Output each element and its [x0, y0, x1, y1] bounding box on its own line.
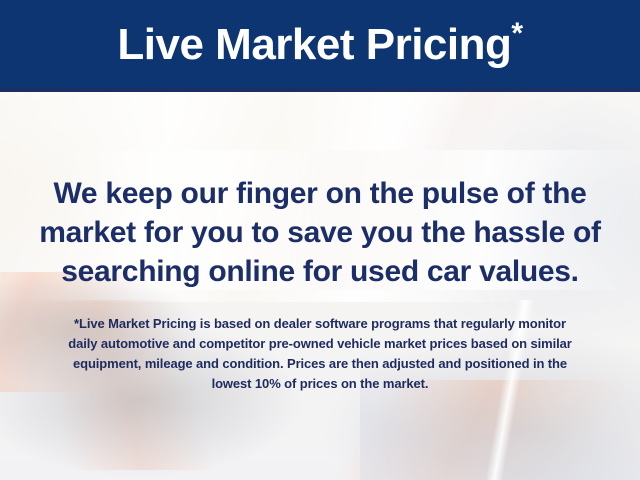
- headline-line-2: market for you to save you the hassle of: [18, 213, 622, 252]
- disclaimer-line-2: daily automotive and competitor pre-owne…: [28, 334, 612, 354]
- disclaimer-line-1: *Live Market Pricing is based on dealer …: [28, 314, 612, 334]
- header-underline: [0, 88, 640, 92]
- page-title-text: Live Market Pricing: [117, 20, 511, 69]
- content-area: We keep our finger on the pulse of the m…: [0, 92, 640, 480]
- page-title-asterisk: *: [511, 17, 522, 50]
- page-title: Live Market Pricing*: [117, 21, 522, 67]
- live-market-pricing-banner: Live Market Pricing* We keep our finger …: [0, 0, 640, 480]
- disclaimer-line-3: equipment, mileage and condition. Prices…: [28, 354, 612, 374]
- headline-line-3: searching online for used car values.: [18, 252, 622, 291]
- headline: We keep our finger on the pulse of the m…: [18, 174, 622, 291]
- header-band: Live Market Pricing*: [0, 0, 640, 88]
- disclaimer-line-4: lowest 10% of prices on the market.: [28, 374, 612, 394]
- headline-line-1: We keep our finger on the pulse of the: [18, 174, 622, 213]
- disclaimer-text: *Live Market Pricing is based on dealer …: [28, 314, 612, 394]
